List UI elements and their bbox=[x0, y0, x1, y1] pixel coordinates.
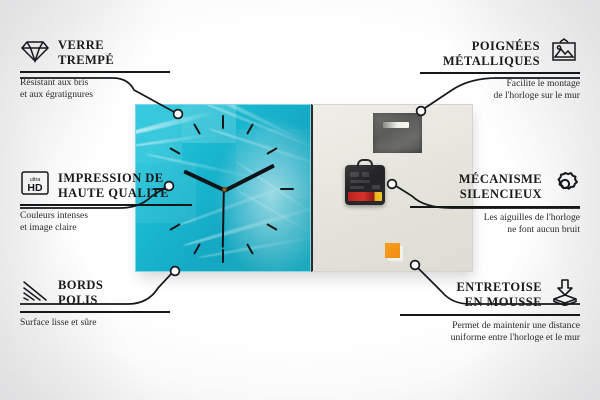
feature-poignees-metalliques: POIGNÉES MÉTALLIQUES Facilite le montage… bbox=[420, 38, 580, 102]
clock-hand-hub bbox=[222, 187, 227, 192]
feature-title-line1: ENTRETOISE bbox=[456, 280, 542, 295]
polished-edge-icon bbox=[20, 279, 50, 308]
feature-title-line1: MÉCANISME bbox=[459, 172, 542, 187]
feature-title-line2: TREMPÉ bbox=[58, 53, 114, 68]
clock-tick bbox=[193, 243, 201, 254]
feature-divider bbox=[20, 71, 170, 73]
clock-tick bbox=[222, 115, 224, 129]
feature-desc-line1: Couleurs intenses bbox=[20, 210, 192, 222]
feature-desc-line2: et image claire bbox=[20, 222, 192, 234]
feature-entretoise-en-mousse: ENTRETOISE EN MOUSSE Permet de maintenir… bbox=[400, 278, 580, 344]
feature-divider bbox=[400, 314, 580, 316]
feature-verre-trempe: VERRE TREMPÉ Résistant aux bris et aux é… bbox=[20, 38, 170, 101]
movement-hanger-loop bbox=[357, 159, 373, 168]
feature-desc-line1: Résistant aux bris bbox=[20, 77, 170, 89]
picture-hanger-icon bbox=[548, 38, 580, 69]
feature-title-line2: MÉTALLIQUES bbox=[443, 54, 540, 69]
feature-title-line1: POIGNÉES bbox=[472, 39, 540, 54]
feature-mecanisme-silencieux: MÉCANISME SILENCIEUX Les aiguilles de l'… bbox=[410, 170, 580, 236]
feature-title-line2: HAUTE QUALITÉ bbox=[58, 186, 169, 201]
feature-desc-line2: et aux égratignures bbox=[20, 89, 170, 101]
clock-tick bbox=[222, 249, 224, 263]
ultra-hd-icon: ultra HD bbox=[20, 170, 50, 201]
gear-icon bbox=[550, 170, 580, 203]
quartz-movement bbox=[345, 165, 385, 205]
battery bbox=[348, 192, 382, 201]
feature-bords-polis: BORDS POLIS Surface lisse et sûre bbox=[20, 278, 170, 329]
feature-divider bbox=[410, 206, 580, 208]
feature-title-line1: BORDS bbox=[58, 278, 103, 293]
feature-title-line2: EN MOUSSE bbox=[465, 295, 542, 310]
feature-desc-line1: Permet de maintenir une distance bbox=[400, 320, 580, 332]
foam-spacer-icon bbox=[550, 278, 580, 311]
feature-desc-line1: Facilite le montage bbox=[420, 78, 580, 90]
feature-desc-line2: de l'horloge sur le mur bbox=[420, 90, 580, 102]
feature-impression-haute-qualite: ultra HD IMPRESSION DE HAUTE QUALITÉ Cou… bbox=[20, 170, 192, 234]
feature-divider bbox=[420, 72, 580, 74]
feature-divider bbox=[20, 204, 192, 206]
feature-title-line2: POLIS bbox=[58, 293, 98, 308]
clock-second-hand bbox=[222, 190, 225, 248]
feature-title-line1: IMPRESSION DE bbox=[58, 171, 164, 186]
clock-tick bbox=[280, 188, 294, 190]
feature-desc-line1: Les aiguilles de l'horloge bbox=[410, 212, 580, 224]
infographic-canvas: VERRE TREMPÉ Résistant aux bris et aux é… bbox=[0, 0, 600, 400]
feature-desc-line2: uniforme entre l'horloge et le mur bbox=[400, 332, 580, 344]
feature-title-line2: SILENCIEUX bbox=[460, 187, 542, 202]
feature-title-line1: VERRE bbox=[58, 38, 104, 53]
ultra-hd-icon-large-text: HD bbox=[27, 182, 43, 194]
foam-spacer bbox=[385, 243, 400, 258]
feature-desc-line1: Surface lisse et sûre bbox=[20, 317, 170, 329]
metal-hanger bbox=[373, 113, 422, 153]
diamond-icon bbox=[20, 39, 50, 68]
feature-desc-line2: ne font aucun bruit bbox=[410, 224, 580, 236]
clock-tick bbox=[266, 223, 277, 231]
feature-divider bbox=[20, 311, 170, 313]
hanger-slot bbox=[383, 122, 409, 128]
